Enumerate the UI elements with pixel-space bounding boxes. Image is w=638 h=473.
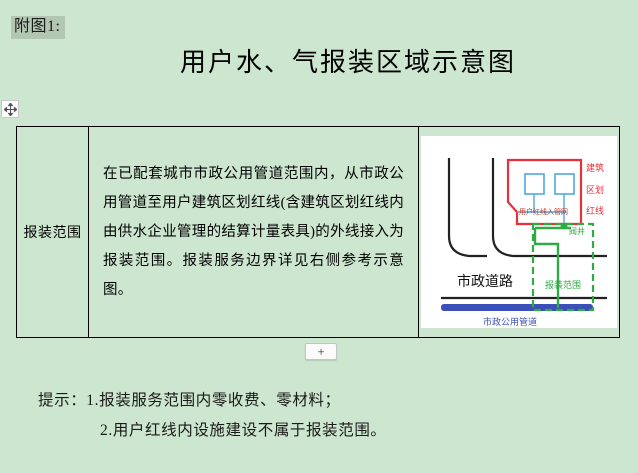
plus-icon: +: [317, 345, 324, 358]
building-block-2: [555, 174, 574, 194]
tips-section: 提示：1.报装服务范围内零收费、零材料； 2.用户红线内设施建设不属于报装范围。: [38, 386, 598, 446]
add-row-button[interactable]: +: [305, 343, 337, 360]
document-page: 附图1: 用户水、气报装区域示意图 报装范围 在已配套城市市政公用管道范围内，从: [0, 0, 638, 473]
table-body-cell: 在已配套城市市政公用管道范围内，从市政公用管道至用户建筑区划红线(含建筑区划红线…: [89, 127, 419, 337]
tip-line-1: 提示：1.报装服务范围内零收费、零材料；: [38, 386, 598, 416]
table-figure-cell: 市政道路 市政公用管道 建筑 区划 红线 用户红线入管网 阀井 报装范围: [419, 127, 619, 337]
red-line-label-3: 红线: [586, 205, 604, 216]
valve-well-marker: [561, 223, 568, 230]
table-row-label-cell: 报装范围: [17, 127, 89, 337]
valve-label: 阀井: [569, 226, 585, 236]
move-arrows-icon: [4, 103, 17, 116]
road-label: 市政道路: [457, 273, 513, 289]
building-block-1: [525, 174, 544, 194]
inner-network-label: 用户红线入管网: [519, 207, 568, 216]
red-line-label-1: 建筑: [586, 162, 604, 173]
table-move-handle[interactable]: [1, 100, 19, 118]
attachment-label: 附图1:: [11, 16, 65, 39]
scope-description: 在已配套城市市政公用管道范围内，从市政公用管道至用户建筑区划红线(含建筑区划红线…: [103, 160, 404, 305]
red-line-label-2: 区划: [586, 184, 604, 195]
schematic-diagram: 市政道路 市政公用管道 建筑 区划 红线 用户红线入管网 阀井 报装范围: [421, 136, 617, 328]
scope-table: 报装范围 在已配套城市市政公用管道范围内，从市政公用管道至用户建筑区划红线(含建…: [16, 126, 620, 338]
municipal-pipe-label: 市政公用管道: [483, 316, 537, 327]
scope-label: 报装范围: [545, 279, 581, 290]
row-label-text: 报装范围: [24, 222, 82, 242]
tip-line-2: 2.用户红线内设施建设不属于报装范围。: [38, 416, 598, 446]
schematic-svg: 市政道路 市政公用管道 建筑 区划 红线 用户红线入管网 阀井 报装范围: [421, 136, 617, 328]
page-title: 用户水、气报装区域示意图: [0, 44, 638, 82]
